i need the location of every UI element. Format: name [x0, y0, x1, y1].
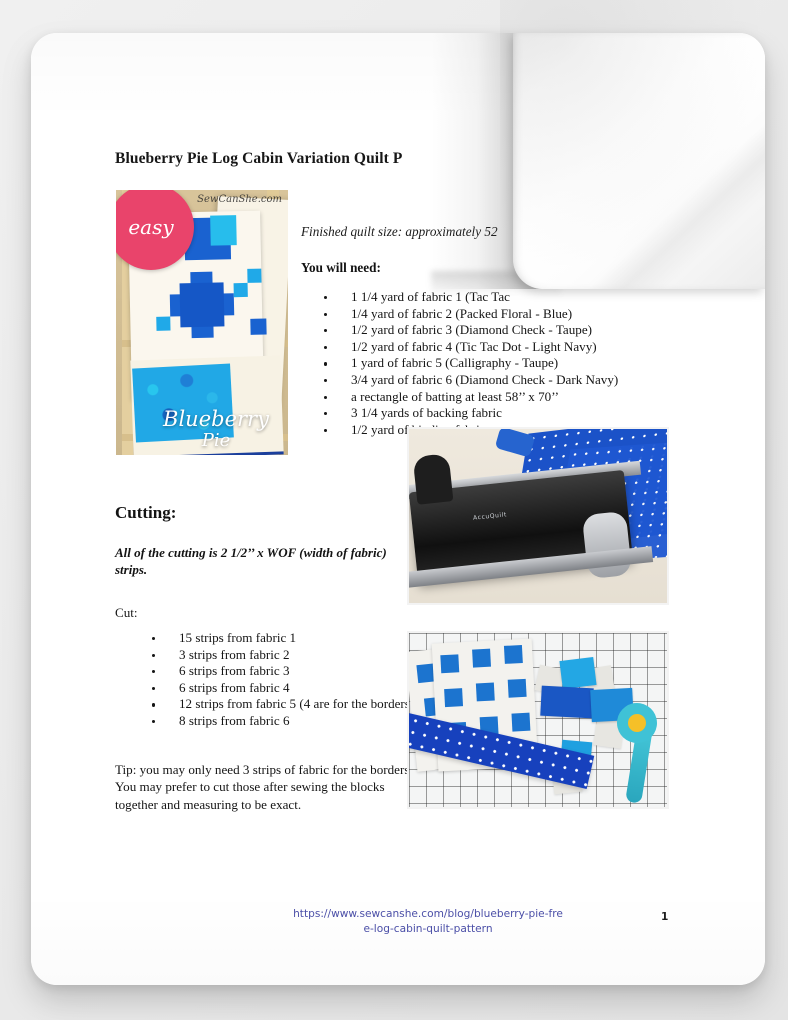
tip-paragraph: Tip: you may only need 3 strips of fabri… — [115, 761, 427, 813]
materials-list: 1 1/4 yard of fabric 1 (Tac Tac 1/4 yard… — [309, 289, 715, 438]
easy-badge-label: easy — [116, 215, 194, 239]
strip-cutter-photo: AccuQuilt — [407, 427, 669, 605]
blue-fabric-square — [540, 686, 593, 719]
rotary-cutter-hub — [628, 714, 646, 732]
page-number: 1 — [661, 911, 668, 923]
quilt-block-motif — [210, 215, 237, 246]
document-page[interactable]: Blueberry Pie Log Cabin Variation Quilt … — [31, 33, 765, 985]
quilt-block-motif — [247, 269, 261, 283]
you-will-need-heading: You will need: — [301, 260, 381, 276]
list-item: 1/2 yard of fabric 3 (Diamond Check - Ta… — [345, 322, 715, 339]
quilt-name-line2: Pie — [144, 430, 288, 451]
blocks-on-mat-photo — [407, 631, 669, 809]
cutter-knob-left — [413, 453, 454, 505]
page-curl-corner[interactable] — [513, 33, 765, 289]
footer-url-link[interactable]: https://www.sewcanshe.com/blog/blueberry… — [293, 907, 563, 937]
blue-fabric-square — [559, 657, 596, 689]
list-item: 1 yard of fabric 5 (Calligraphy - Taupe) — [345, 355, 715, 372]
list-item: 1/2 yard of fabric 4 (Tic Tac Dot - Ligh… — [345, 339, 715, 356]
cutting-heading: Cutting: — [115, 503, 176, 523]
quilt-cover-photo: easy SewCanShe.com Blueberry Pie — [116, 190, 288, 455]
cut-list: 15 strips from fabric 1 3 strips from fa… — [137, 630, 453, 730]
cutter-knob-right — [582, 511, 632, 579]
quilt-name-line1: Blueberry — [163, 407, 269, 431]
screenshot-viewport: Blueberry Pie Log Cabin Variation Quilt … — [0, 0, 788, 1020]
quilt-block-motif — [250, 319, 266, 335]
quilt-block-motif — [156, 317, 170, 331]
quilt-block-motif — [234, 283, 248, 297]
quilt-block-motif — [180, 282, 225, 327]
list-item: 3 1/4 yards of backing fabric — [345, 405, 715, 422]
list-item: 1/4 yard of fabric 2 (Packed Floral - Bl… — [345, 306, 715, 323]
cut-label: Cut: — [115, 605, 138, 621]
list-item: 3/4 yard of fabric 6 (Diamond Check - Da… — [345, 372, 715, 389]
list-item: 1 1/4 yard of fabric 1 (Tac Tac — [345, 289, 715, 306]
list-item: a rectangle of batting at least 58’’ x 7… — [345, 389, 715, 406]
cutting-note: All of the cutting is 2 1/2’’ x WOF (wid… — [115, 544, 405, 578]
sewcanshe-logo: SewCanShe.com — [197, 194, 282, 205]
quilt-name-overlay: Blueberry Pie — [144, 409, 288, 451]
